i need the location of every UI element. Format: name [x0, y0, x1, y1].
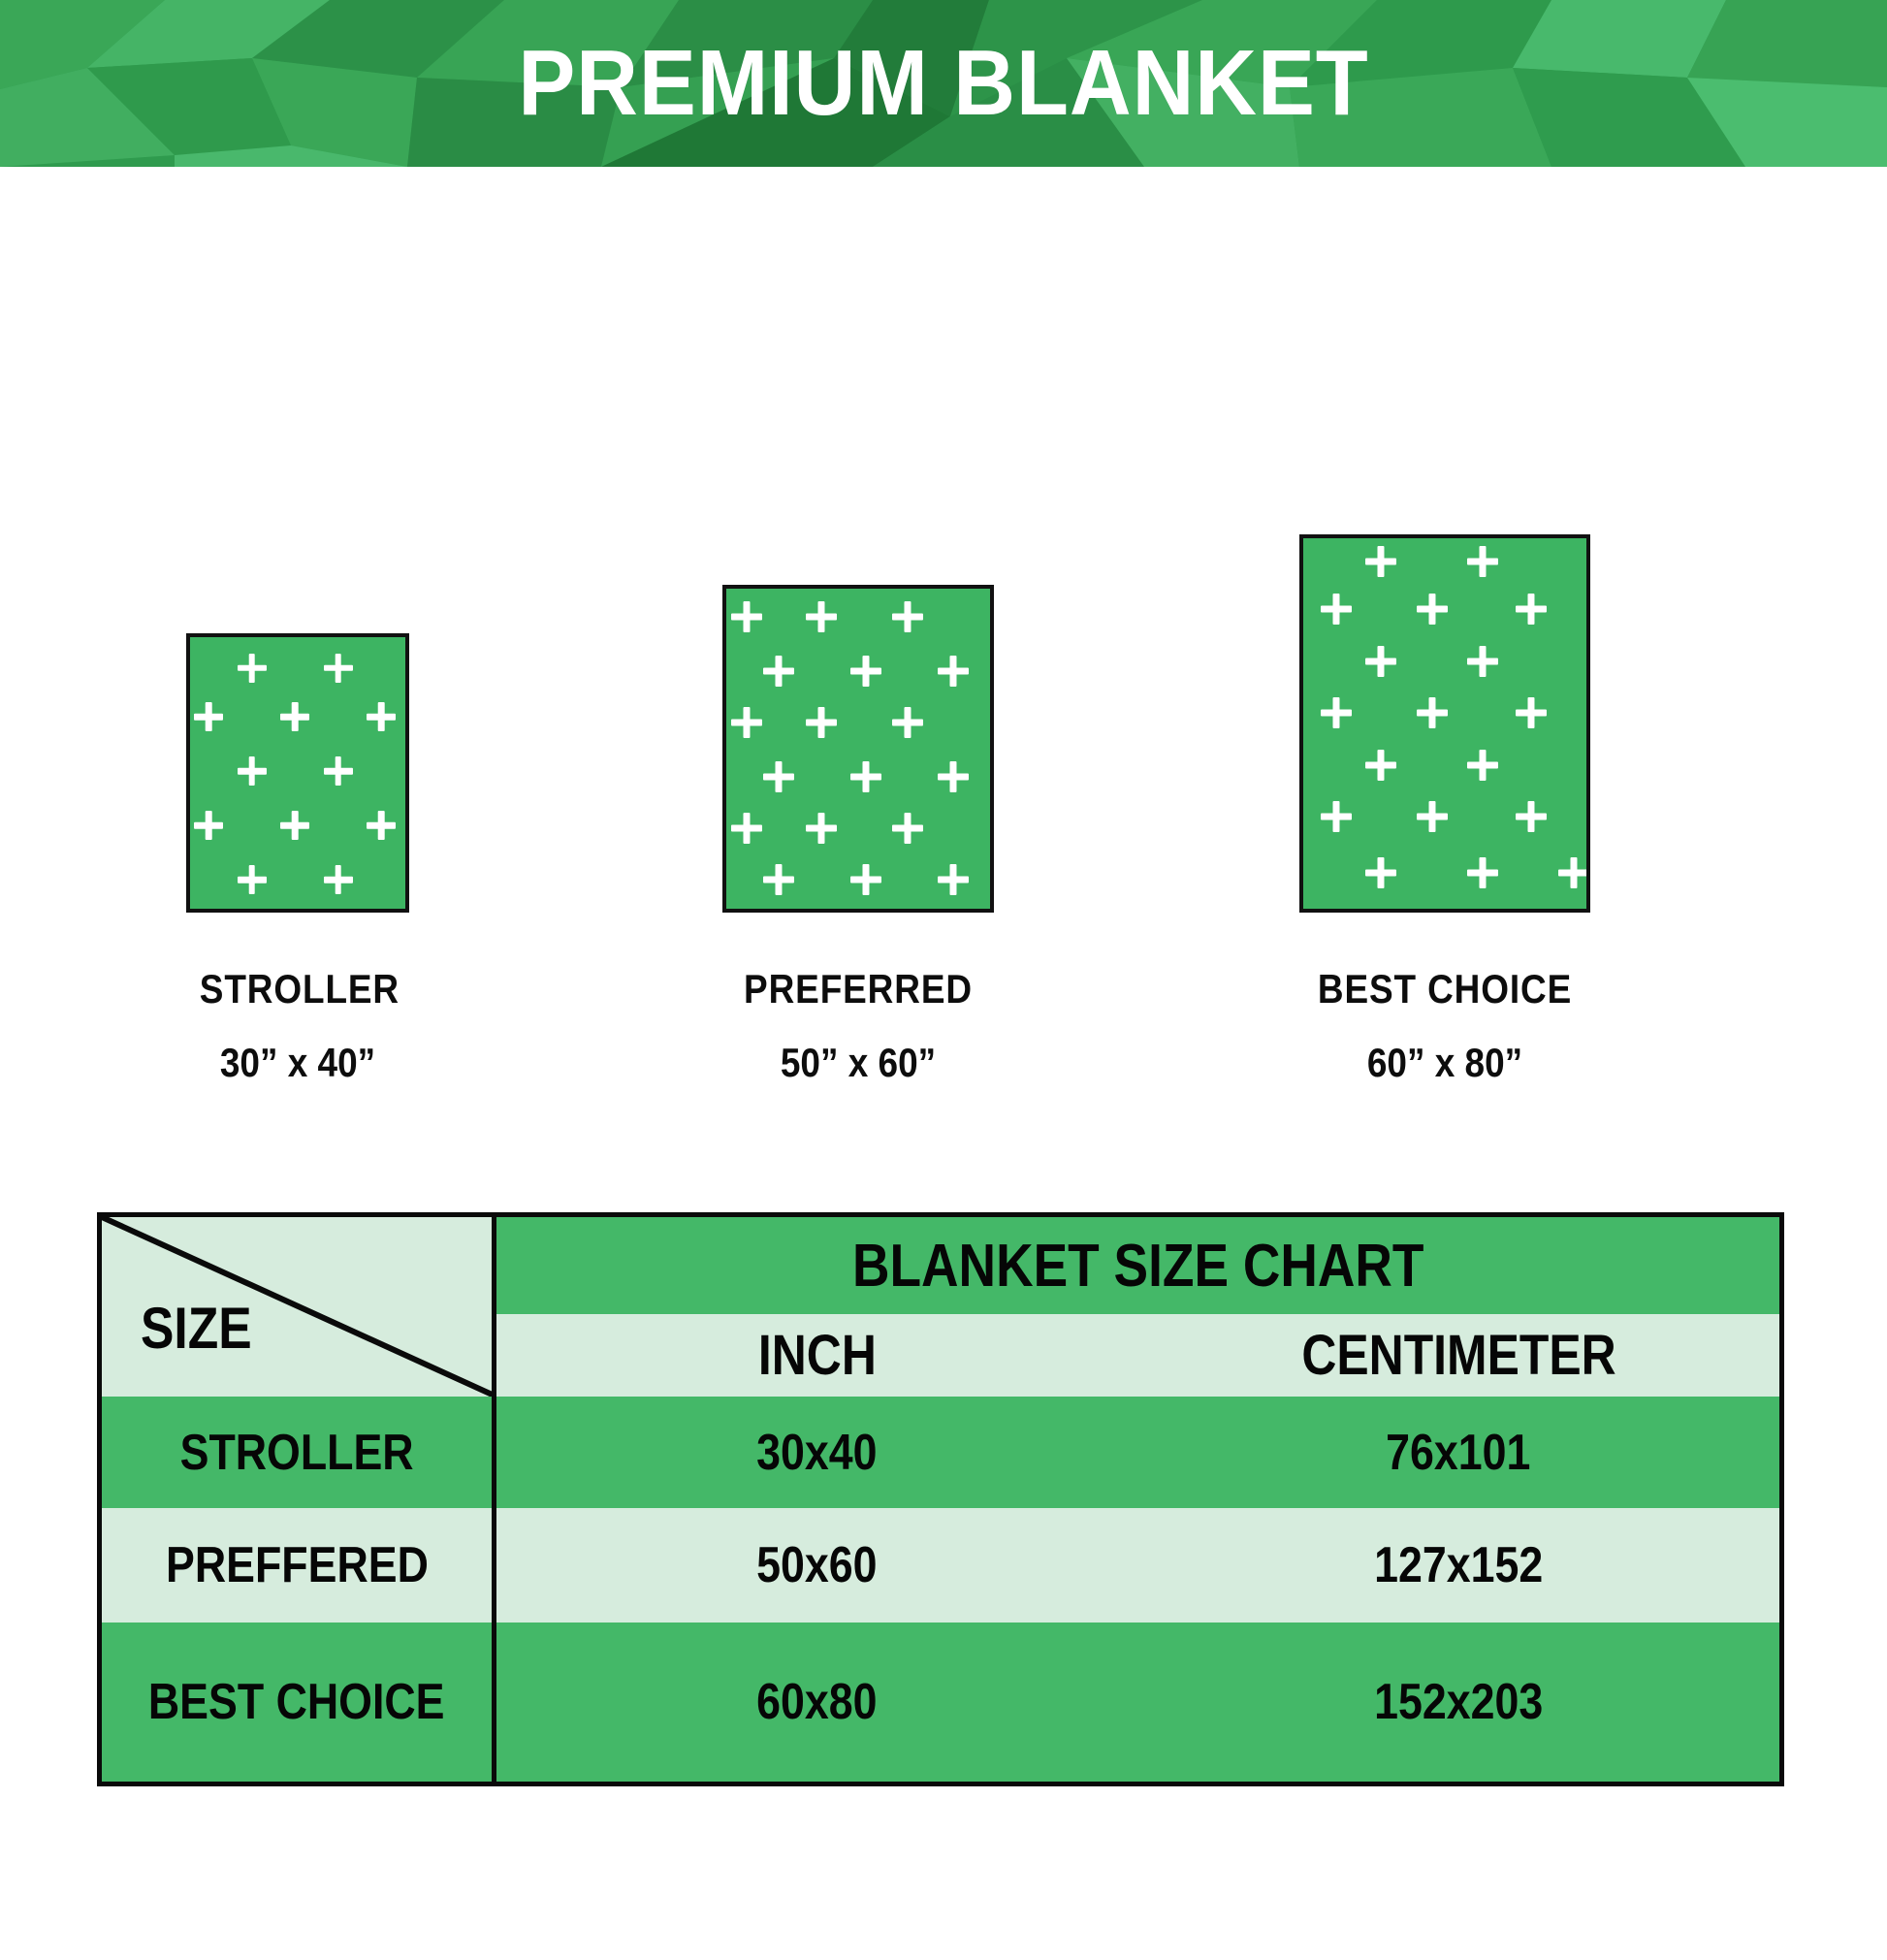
- cross-icon: [1365, 857, 1396, 888]
- chart-corner-label: SIZE: [141, 1295, 252, 1362]
- chart-row-label-preffered: PREFFERED: [102, 1508, 492, 1623]
- table-row: 30x40 76x101: [496, 1397, 1779, 1508]
- cross-icon: [1467, 646, 1498, 677]
- column-header-inch: INCH: [758, 1323, 877, 1388]
- cross-icon: [1467, 857, 1498, 888]
- cross-icon: [367, 702, 396, 731]
- blanket-swatch-stroller: [186, 633, 409, 913]
- cross-icon: [1417, 801, 1448, 832]
- chart-data-columns: BLANKET SIZE CHART INCH CENTIMETER 30x: [496, 1217, 1779, 1782]
- cross-icon: [1516, 594, 1547, 625]
- table-row: 60x80 152x203: [496, 1623, 1779, 1782]
- blanket-dims-best-choice: 60” x 80”: [1299, 1040, 1589, 1086]
- cell-centimeter: 127x152: [1374, 1536, 1543, 1594]
- cross-icon: [850, 761, 881, 792]
- cross-icon: [938, 761, 969, 792]
- blanket-size-chart-table: STROLLER PREFFERED BEST CHOICE SIZE BLAN…: [97, 1212, 1784, 1786]
- cross-icon: [892, 813, 923, 844]
- cross-icon: [763, 656, 794, 687]
- cross-icon: [280, 811, 309, 840]
- cross-icon: [806, 601, 837, 632]
- cross-icon: [1365, 750, 1396, 781]
- cell-inch: 30x40: [757, 1424, 878, 1482]
- cross-icon: [806, 813, 837, 844]
- cross-icon: [806, 707, 837, 738]
- blanket-dims-preferred: 50” x 60”: [730, 1040, 986, 1086]
- cross-icon: [1558, 857, 1589, 888]
- cross-icon: [238, 865, 267, 894]
- chart-column-header-row: INCH CENTIMETER: [496, 1314, 1779, 1397]
- cross-icon: [1365, 546, 1396, 577]
- cross-icon: [892, 601, 923, 632]
- cross-icon: [1321, 801, 1352, 832]
- cross-icon: [731, 813, 762, 844]
- cross-icon: [194, 811, 223, 840]
- cell-centimeter: 76x101: [1387, 1424, 1531, 1482]
- cross-icon: [850, 864, 881, 895]
- cross-icon: [1321, 594, 1352, 625]
- blanket-swatch-best-choice: [1299, 534, 1590, 913]
- cross-icon: [367, 811, 396, 840]
- cross-icon: [238, 654, 267, 683]
- blanket-label-best-choice: BEST CHOICE: [1299, 966, 1589, 1012]
- blanket-illustrations: STROLLER 30” x 40” PREFERRED 50” x 60”: [0, 388, 1887, 1086]
- blanket-group-stroller: STROLLER 30” x 40”: [186, 633, 409, 1086]
- cross-icon: [1417, 594, 1448, 625]
- cell-inch: 60x80: [757, 1673, 878, 1731]
- chart-row-label-best-choice: BEST CHOICE: [102, 1623, 492, 1782]
- cross-icon: [324, 654, 353, 683]
- cross-icon: [938, 864, 969, 895]
- cross-icon: [763, 864, 794, 895]
- cross-icon: [324, 865, 353, 894]
- blanket-label-stroller: STROLLER: [200, 966, 396, 1012]
- cross-icon: [731, 601, 762, 632]
- cross-icon: [1467, 546, 1498, 577]
- row-label-text: BEST CHOICE: [148, 1673, 445, 1731]
- blanket-group-best-choice: BEST CHOICE 60” x 80”: [1280, 534, 1610, 1086]
- chart-title-cell: BLANKET SIZE CHART: [496, 1217, 1779, 1314]
- chart-row-label-stroller: STROLLER: [102, 1397, 492, 1508]
- cross-icon: [1365, 646, 1396, 677]
- cell-inch: 50x60: [757, 1536, 878, 1594]
- cross-icon: [1467, 750, 1498, 781]
- table-row: 50x60 127x152: [496, 1508, 1779, 1623]
- cross-icon: [1516, 801, 1547, 832]
- chart-size-column: STROLLER PREFFERED BEST CHOICE SIZE: [102, 1217, 496, 1782]
- cross-icon: [1417, 697, 1448, 728]
- row-label-text: PREFFERED: [166, 1536, 429, 1594]
- cross-icon: [938, 656, 969, 687]
- cross-icon: [1516, 697, 1547, 728]
- cross-icon: [731, 707, 762, 738]
- cross-icon: [324, 756, 353, 786]
- blanket-label-preferred: PREFERRED: [730, 966, 986, 1012]
- cross-icon: [892, 707, 923, 738]
- cross-icon: [238, 756, 267, 786]
- cross-icon: [850, 656, 881, 687]
- blanket-group-preferred: PREFERRED 50” x 60”: [713, 585, 1004, 1086]
- column-header-centimeter: CENTIMETER: [1301, 1323, 1615, 1388]
- cross-icon: [194, 702, 223, 731]
- cross-icon: [280, 702, 309, 731]
- page-title: PREMIUM BLANKET: [76, 0, 1811, 167]
- cell-centimeter: 152x203: [1374, 1673, 1543, 1731]
- cross-icon: [1321, 697, 1352, 728]
- cross-icon: [763, 761, 794, 792]
- row-label-text: STROLLER: [180, 1424, 414, 1482]
- chart-title-text: BLANKET SIZE CHART: [852, 1232, 1423, 1301]
- header-banner: PREMIUM BLANKET: [0, 0, 1887, 167]
- blanket-swatch-preferred: [722, 585, 994, 913]
- blanket-dims-stroller: 30” x 40”: [200, 1040, 396, 1086]
